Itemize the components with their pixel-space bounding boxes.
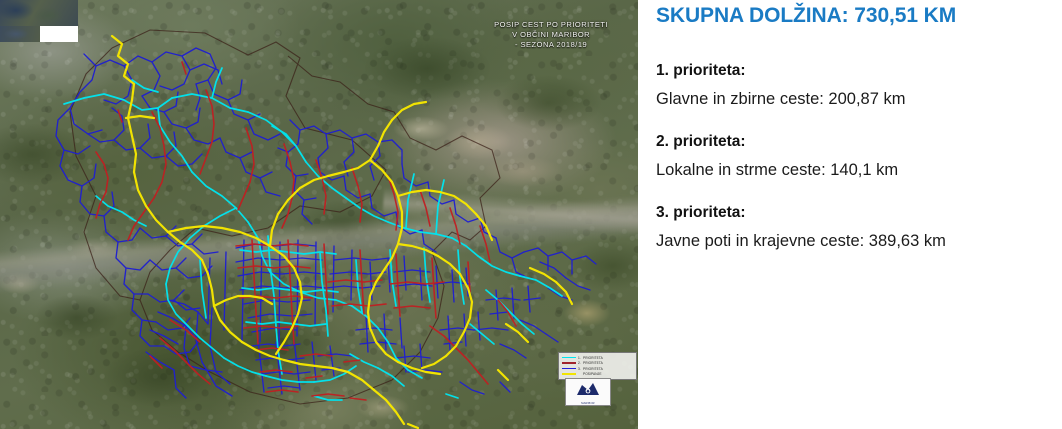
priority-3-title: 3. prioriteta:: [656, 203, 1046, 223]
legend-row-posipanje: POSIPANJE: [562, 372, 634, 377]
crop-artifact-notch: [0, 26, 40, 42]
legend-label-priority-1: PRIORITETA: [583, 356, 603, 360]
legend-swatch-priority-1: [562, 357, 576, 359]
priority-1-title: 1. prioriteta:: [656, 61, 1046, 81]
legend-row-priority-1: 1. PRIORITETA: [562, 355, 634, 360]
image-crop-artifact: [0, 0, 78, 42]
priority-block-2: 2. prioriteta: Lokalne in strme ceste: 1…: [656, 132, 1046, 181]
crop-artifact-strip: [0, 0, 78, 26]
total-length-heading: SKUPNA DOLŽINA: 730,51 KM: [656, 0, 1046, 29]
maribor-logo-caption: MARIBOR: [566, 402, 610, 405]
priority-block-3: 3. prioriteta: Javne poti in krajevne ce…: [656, 203, 1046, 252]
maribor-logo-mark: [575, 382, 601, 398]
map-title-line-3: - SEZONA 2018/19: [494, 40, 608, 50]
legend-row-priority-3: 3. PRIORITETA: [562, 366, 634, 371]
map-title-line-2: V OBČINI MARIBOR: [494, 30, 608, 40]
legend-swatch-priority-2: [562, 362, 576, 364]
map-title-overlay: POSIP CEST PO PRIORITETI V OBČINI MARIBO…: [494, 20, 608, 50]
legend-swatch-priority-3: [562, 368, 576, 370]
maribor-logo: MARIBOR: [565, 378, 611, 406]
legend-label-priority-3: PRIORITETA: [583, 367, 603, 371]
page-root: POSIP CEST PO PRIORITETI V OBČINI MARIBO…: [0, 0, 1062, 429]
priority-1-description: Glavne in zbirne ceste: 200,87 km: [656, 88, 1046, 110]
legend-label-posipanje: POSIPANJE: [583, 372, 602, 376]
priority-block-1: 1. prioriteta: Glavne in zbirne ceste: 2…: [656, 61, 1046, 110]
map-legend[interactable]: 1. PRIORITETA 2. PRIORITETA 3. PRIORITET…: [558, 352, 637, 380]
priority-2-description: Lokalne in strme ceste: 140,1 km: [656, 159, 1046, 181]
map-image[interactable]: POSIP CEST PO PRIORITETI V OBČINI MARIBO…: [0, 0, 638, 429]
priority-3-description: Javne poti in krajevne ceste: 389,63 km: [656, 230, 1046, 252]
legend-label-priority-2: PRIORITETA: [583, 361, 603, 365]
priority-2-title: 2. prioriteta:: [656, 132, 1046, 152]
legend-swatch-posipanje: [562, 373, 576, 375]
map-title-line-1: POSIP CEST PO PRIORITETI: [494, 20, 608, 30]
info-panel: SKUPNA DOLŽINA: 730,51 KM 1. prioriteta:…: [638, 0, 1062, 429]
legend-row-priority-2: 2. PRIORITETA: [562, 361, 634, 366]
